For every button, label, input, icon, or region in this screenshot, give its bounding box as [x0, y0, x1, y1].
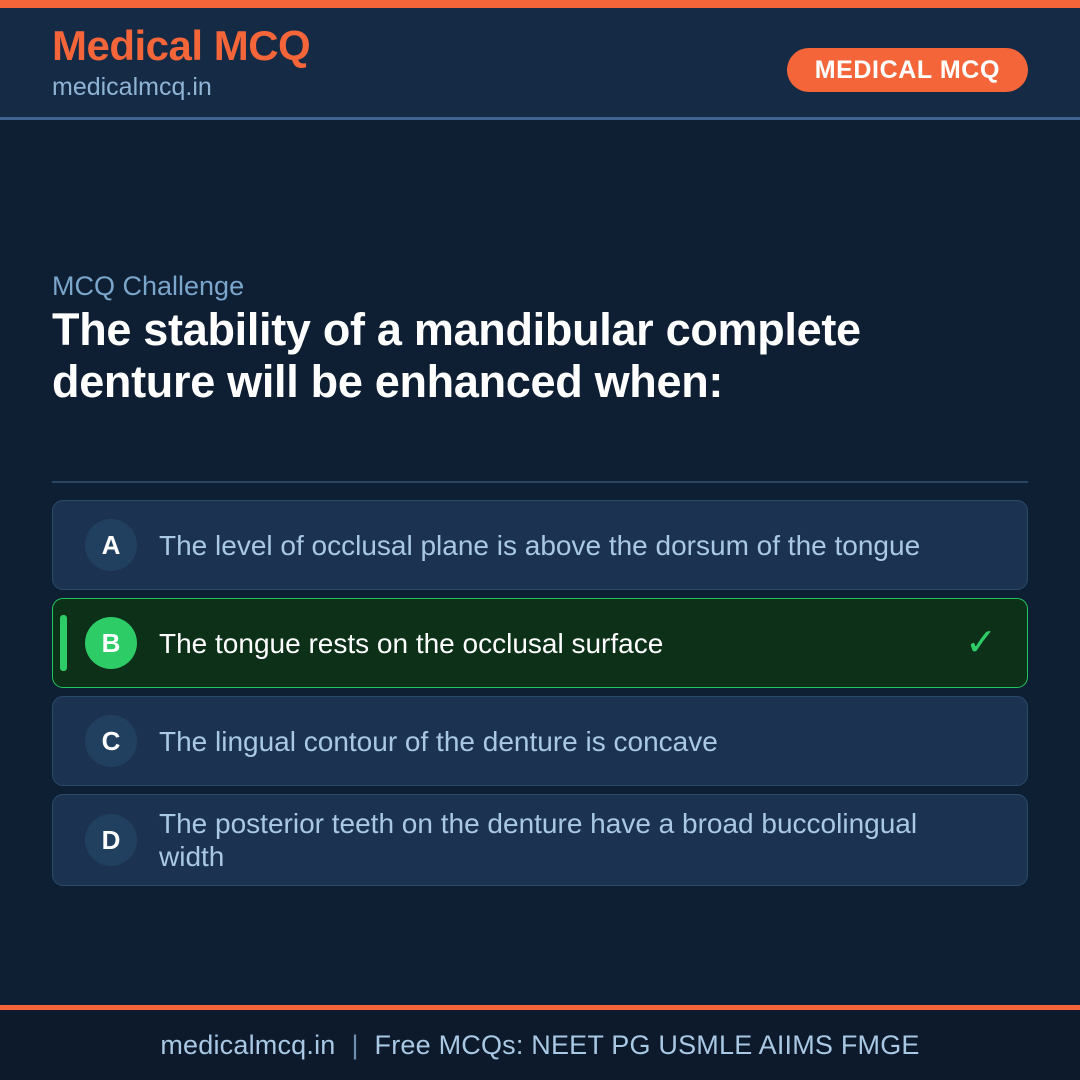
- option-text: The posterior teeth on the denture have …: [159, 807, 961, 873]
- page-header: Medical MCQ medicalmcq.in MEDICAL MCQ: [0, 8, 1080, 120]
- options-list: A The level of occlusal plane is above t…: [52, 500, 1028, 894]
- question-text: The stability of a mandibular complete d…: [52, 304, 932, 408]
- brand-title: Medical MCQ: [52, 22, 310, 70]
- header-badge: MEDICAL MCQ: [787, 48, 1028, 92]
- footer-separator: |: [336, 1030, 375, 1061]
- option-letter-badge: D: [85, 814, 137, 866]
- option-a[interactable]: A The level of occlusal plane is above t…: [52, 500, 1028, 590]
- option-text: The tongue rests on the occlusal surface: [159, 627, 961, 660]
- option-letter-badge: A: [85, 519, 137, 571]
- option-b[interactable]: B The tongue rests on the occlusal surfa…: [52, 598, 1028, 688]
- page-footer: medicalmcq.in | Free MCQs: NEET PG USMLE…: [0, 1010, 1080, 1080]
- option-letter-badge: C: [85, 715, 137, 767]
- main-content: MCQ Challenge The stability of a mandibu…: [0, 120, 1080, 1010]
- correct-accent-bar: [60, 615, 67, 671]
- option-text: The level of occlusal plane is above the…: [159, 529, 961, 562]
- option-c[interactable]: C The lingual contour of the denture is …: [52, 696, 1028, 786]
- option-d[interactable]: D The posterior teeth on the denture hav…: [52, 794, 1028, 886]
- option-letter-badge: B: [85, 617, 137, 669]
- top-accent-bar: [0, 0, 1080, 8]
- section-divider: [52, 481, 1028, 483]
- brand-subtitle: medicalmcq.in: [52, 72, 310, 102]
- footer-tags: Free MCQs: NEET PG USMLE AIIMS FMGE: [375, 1030, 920, 1061]
- brand-block: Medical MCQ medicalmcq.in: [52, 22, 310, 102]
- option-text: The lingual contour of the denture is co…: [159, 725, 961, 758]
- eyebrow-label: MCQ Challenge: [52, 270, 244, 302]
- check-icon: ✓: [961, 623, 1001, 663]
- footer-site: medicalmcq.in: [160, 1030, 335, 1061]
